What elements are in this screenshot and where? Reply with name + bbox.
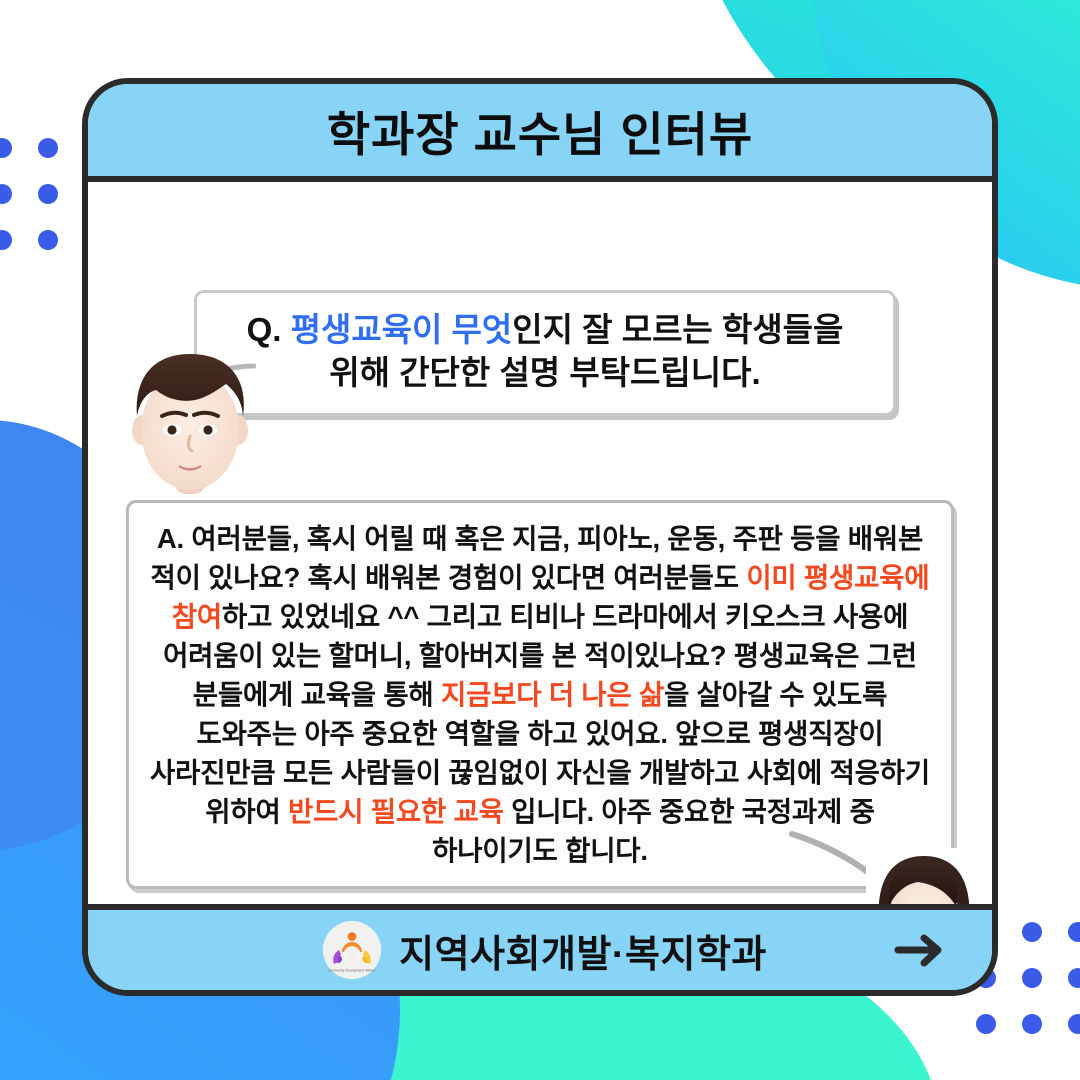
decor-dot: [0, 138, 12, 158]
question-text: Q. 평생교육이 무엇인지 잘 모르는 학생들을 위해 간단한 설명 부탁드립니…: [217, 309, 873, 395]
card-footer: Community Development Welfare 지역사회개발·복지학…: [88, 904, 992, 990]
page-title: 학과장 교수님 인터뷰: [327, 96, 753, 165]
department-name: 지역사회개발·복지학과: [399, 923, 767, 978]
interview-card: 학과장 교수님 인터뷰 Q. 평생교육이 무엇인지 잘 모르는 학생들을 위해 …: [82, 78, 998, 996]
question-bubble: Q. 평생교육이 무엇인지 잘 모르는 학생들을 위해 간단한 설명 부탁드립니…: [194, 290, 896, 416]
decor-dot: [38, 230, 58, 250]
decor-dot: [0, 184, 12, 204]
department-logo-icon: Community Development Welfare: [323, 921, 381, 979]
decor-dot: [38, 184, 58, 204]
text-segment-blue: 평생교육이 무엇: [291, 311, 513, 348]
arrow-right-icon[interactable]: [894, 932, 946, 968]
card-body: Q. 평생교육이 무엇인지 잘 모르는 학생들을 위해 간단한 설명 부탁드립니…: [88, 182, 992, 904]
decor-dot: [1022, 968, 1042, 988]
decor-dot: [0, 230, 12, 250]
decor-dot: [1022, 922, 1042, 942]
decor-dot: [1068, 968, 1080, 988]
card-header: 학과장 교수님 인터뷰: [88, 84, 992, 182]
footer-brand: Community Development Welfare 지역사회개발·복지학…: [313, 921, 767, 979]
community-development-welfare-logo: Community Development Welfare: [323, 921, 381, 979]
answer-text: A. 여러분들, 혹시 어릴 때 혹은 지금, 피아노, 운동, 주판 등을 배…: [147, 519, 933, 870]
logo-caption: Community Development Welfare: [328, 969, 376, 973]
text-segment-red: 지금보다 더 나은 삶: [441, 679, 664, 710]
student-avatar: [116, 338, 264, 508]
decor-dot: [1068, 1014, 1080, 1034]
decor-dot: [38, 138, 58, 158]
decor-dot: [1068, 922, 1080, 942]
text-segment-red: 반드시 필요한 교육: [288, 796, 504, 827]
poster-canvas: 학과장 교수님 인터뷰 Q. 평생교육이 무엇인지 잘 모르는 학생들을 위해 …: [0, 0, 1080, 1080]
decor-dot: [976, 1014, 996, 1034]
decor-dot: [1022, 1014, 1042, 1034]
answer-bubble: A. 여러분들, 혹시 어릴 때 혹은 지금, 피아노, 운동, 주판 등을 배…: [126, 500, 954, 889]
student-face-illustration: [116, 338, 264, 508]
